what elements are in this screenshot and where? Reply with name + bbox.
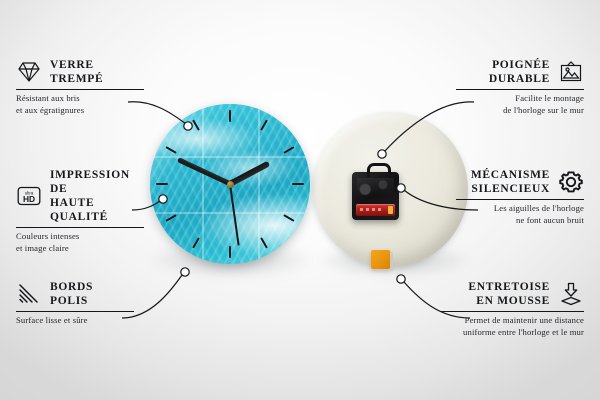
feature-title: POIGNÉEDURABLE [489,58,550,86]
feature-rule [16,89,144,90]
movement-detail [357,178,394,197]
feature-title: ENTRETOISEEN MOUSSE [468,280,550,308]
feature-description: Surface lisse et sûre [16,315,134,327]
feature-verre-trempe: VERRETREMPÉ Résistant aux briset aux égr… [16,58,144,117]
feature-entretoise-en-mousse: ENTRETOISEEN MOUSSE Permet de maintenir … [440,280,584,339]
feature-header: VERRETREMPÉ [16,58,144,86]
feature-header: ENTRETOISEEN MOUSSE [440,280,584,308]
feature-title: IMPRESSION DEHAUTE QUALITÉ [50,168,144,224]
feature-title: MÉCANISMESILENCIEUX [471,168,550,196]
clock-tick [229,108,231,184]
feature-rule [456,199,584,200]
feature-description: Permet de maintenir une distanceuniforme… [440,315,584,338]
product-infographic: VERRETREMPÉ Résistant aux briset aux égr… [0,0,600,400]
feature-header: MÉCANISMESILENCIEUX [456,168,584,196]
ultra-hd-icon: ultra HD [16,183,42,209]
clock-front-face [150,104,310,264]
feature-rule [440,311,584,312]
feature-description: Facilite le montagede l'horloge sur le m… [456,93,584,116]
feature-title: BORDSPOLIS [50,280,93,308]
gear-icon [558,169,584,195]
feature-title: VERRETREMPÉ [50,58,103,86]
polished-edge-icon [16,281,42,307]
feature-rule [16,311,134,312]
feature-header: ultra HD IMPRESSION DEHAUTE QUALITÉ [16,168,144,224]
feature-rule [16,227,144,228]
feature-impression-haute-qualite: ultra HD IMPRESSION DEHAUTE QUALITÉ Coul… [16,168,144,255]
clock-tick [154,183,230,185]
feature-description: Couleurs intenseset image claire [16,231,144,254]
svg-text:HD: HD [23,194,35,204]
clock-movement [352,172,399,220]
feature-description: Résistant aux briset aux égratignures [16,93,144,116]
diamond-icon [16,59,42,85]
feature-rule [456,89,584,90]
foam-spacer [371,250,390,269]
center-cap [227,181,234,188]
feature-mecanisme-silencieux: MÉCANISMESILENCIEUX Les aiguilles de l'h… [456,168,584,227]
hanging-hook-icon [367,163,391,177]
feature-bords-polis: BORDSPOLIS Surface lisse et sûre [16,280,134,327]
feature-poignee-durable: POIGNÉEDURABLE Facilite le montagede l'h… [456,58,584,117]
aa-battery [356,204,395,216]
feature-description: Les aiguilles de l'horlogene font aucun … [456,203,584,226]
wall-hanger-icon [558,59,584,85]
clock-tick [230,183,306,185]
foam-spacer-icon [558,281,584,307]
feature-header: POIGNÉEDURABLE [456,58,584,86]
feature-header: BORDSPOLIS [16,280,134,308]
